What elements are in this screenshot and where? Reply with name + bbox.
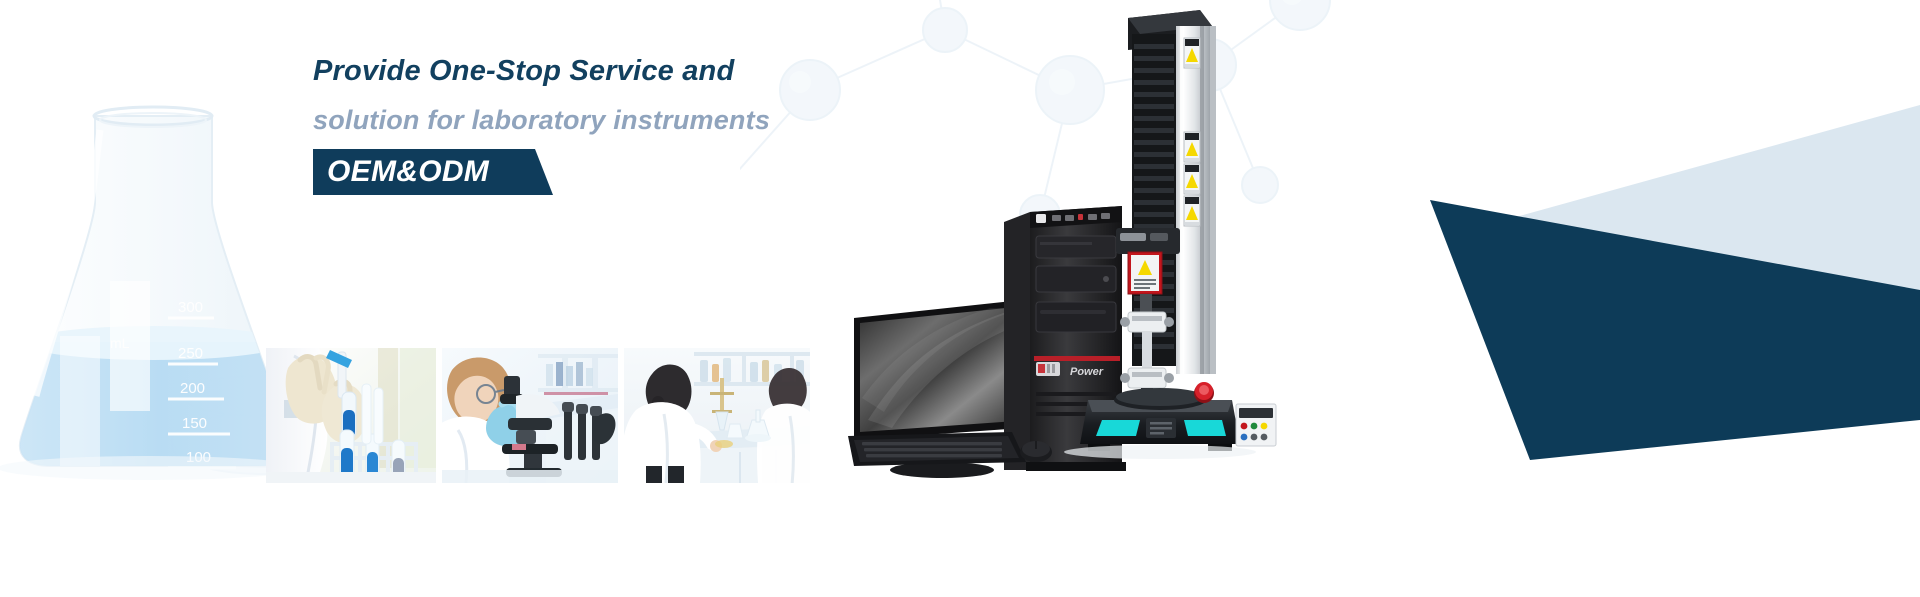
headline-line-2: solution for laboratory instruments <box>313 106 953 134</box>
upper-grip <box>1120 294 1174 370</box>
photo-strip <box>266 348 810 483</box>
computer-tower: Power <box>1004 206 1126 471</box>
warning-label-4 <box>1184 196 1200 226</box>
warning-label-3 <box>1184 164 1200 194</box>
flask-graduation-300: 300 <box>178 299 203 316</box>
computer-keyboard <box>848 432 1026 466</box>
flask-graduation-100: 100 <box>186 449 211 466</box>
promotional-banner: 300 250 200 150 100 mL Provide One-Stop … <box>0 0 1920 597</box>
base-accent-left <box>1096 420 1140 436</box>
oem-odm-badge-row: OEM&ODM <box>313 149 953 195</box>
side-control-box <box>1236 404 1276 446</box>
computer-mouse <box>1020 441 1052 462</box>
oem-odm-badge-label: OEM&ODM <box>313 149 553 189</box>
flask-graduation-200: 200 <box>180 380 205 397</box>
flask-graduation-250: 250 <box>178 345 203 362</box>
arrow-dark-shape <box>1200 0 1920 597</box>
headline-line-1: Provide One-Stop Service and <box>313 56 953 86</box>
computer-monitor <box>854 300 1022 478</box>
oem-odm-badge: OEM&ODM <box>313 149 553 195</box>
warning-label-1 <box>1184 38 1200 68</box>
warning-label-2 <box>1184 132 1200 162</box>
crosshead <box>1116 228 1180 294</box>
flask-unit-label: mL <box>110 335 130 351</box>
base-accent-right <box>1184 420 1226 436</box>
arrow-light-shape <box>1400 0 1920 597</box>
universal-tensile-testing-machine <box>1064 10 1276 459</box>
flask-graduation-150: 150 <box>182 415 207 432</box>
tower-brand-label: Power <box>1070 366 1104 378</box>
photo-pipetting-test-tubes <box>266 348 436 483</box>
photo-microscope-researcher <box>442 348 618 483</box>
lower-grip <box>1120 368 1174 402</box>
headline-block: Provide One-Stop Service and solution fo… <box>313 56 953 195</box>
photo-lab-workers-bench <box>624 348 810 483</box>
